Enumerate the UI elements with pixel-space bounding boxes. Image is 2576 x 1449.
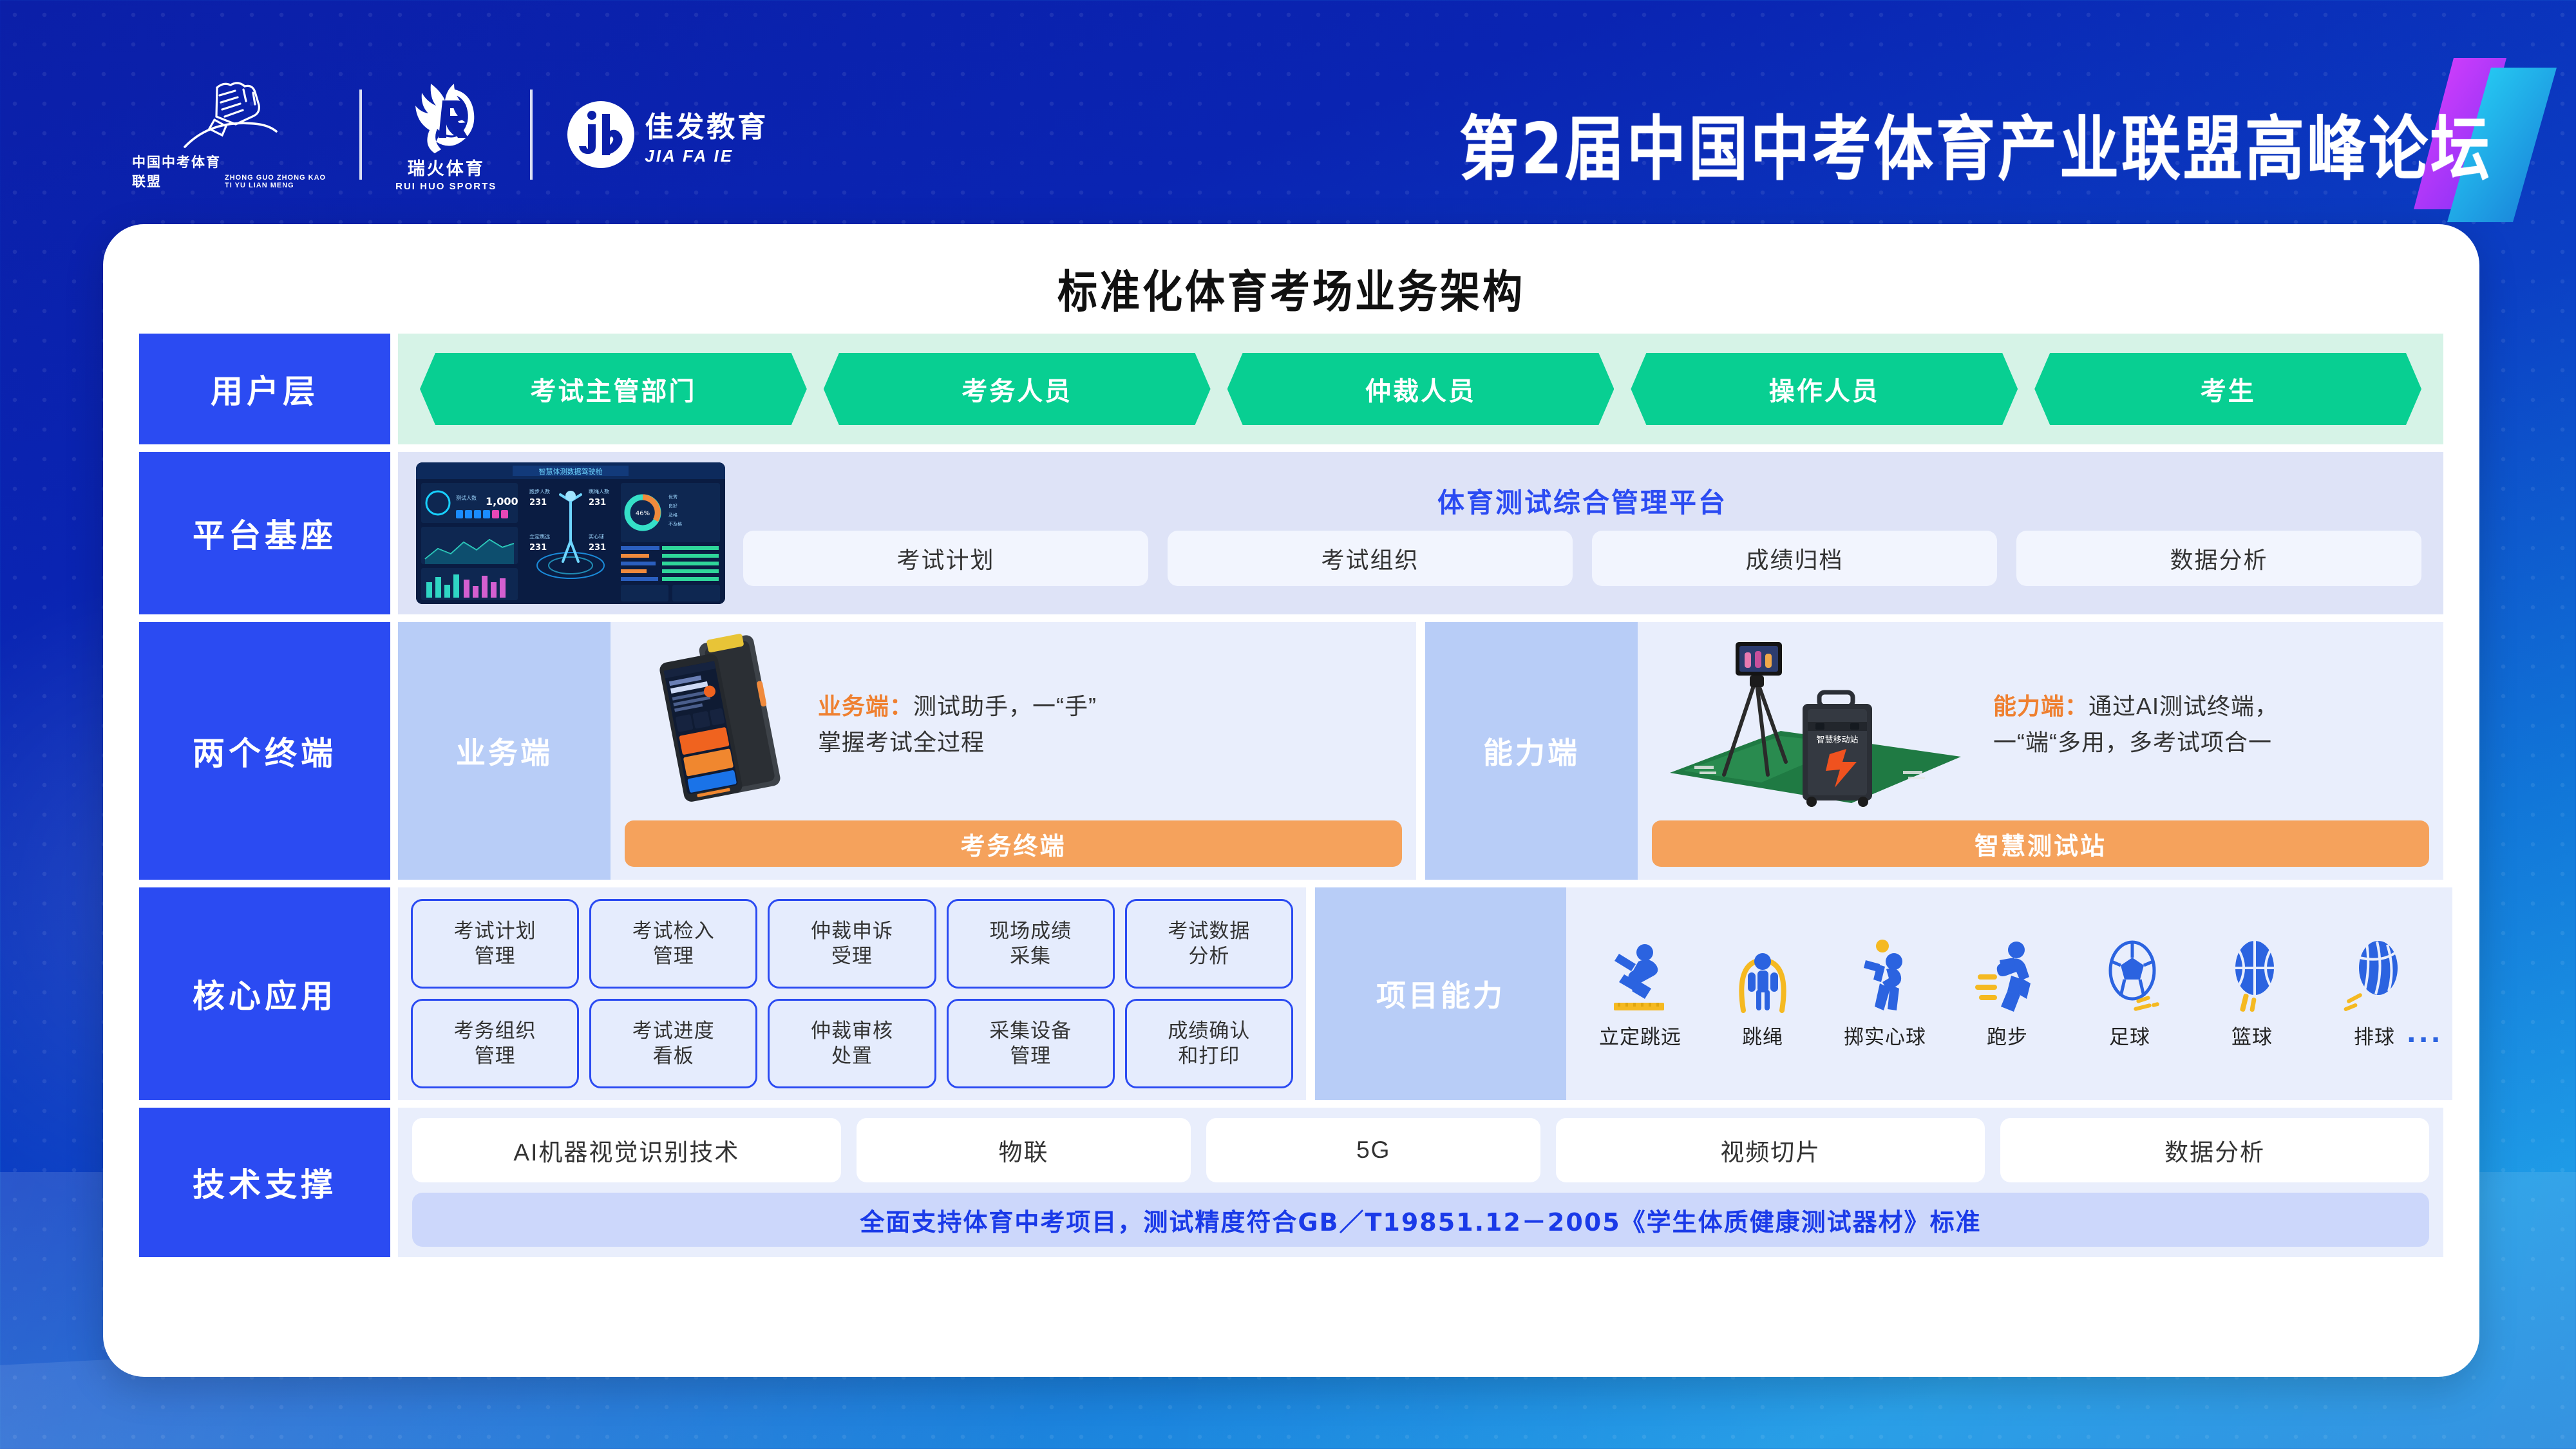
user-chip-list: 考试主管部门 考务人员 仲裁人员 操作人员 考生 xyxy=(398,334,2443,444)
core-app-item[interactable]: 成绩确认和打印 xyxy=(1125,999,1293,1088)
platform-tile-list: 考试计划 考试组织 成绩归档 数据分析 xyxy=(743,531,2421,586)
row-label-user-layer: 用户层 xyxy=(139,334,390,444)
solid-ball-throw-icon xyxy=(1854,938,1916,1014)
svg-text:智慧移动站: 智慧移动站 xyxy=(1816,735,1858,745)
core-app-line1: 考试检入 xyxy=(632,919,715,944)
platform-tile[interactable]: 数据分析 xyxy=(2016,531,2421,586)
core-app-line1: 仲裁申诉 xyxy=(811,919,893,944)
event-title: 第2届中国中考体育产业联盟高峰论坛 xyxy=(1459,93,2492,194)
user-chip[interactable]: 考试主管部门 xyxy=(420,353,807,425)
standing-long-jump-icon xyxy=(1605,938,1676,1014)
sport-label: 排球 xyxy=(2354,1021,2395,1050)
rope-skipping-icon xyxy=(1732,938,1794,1014)
running-icon xyxy=(1974,938,2041,1014)
svg-text:跳绳人数: 跳绳人数 xyxy=(589,488,609,495)
platform-tile[interactable]: 考试组织 xyxy=(1168,531,1573,586)
sport-item[interactable]: 篮球 xyxy=(2191,938,2313,1050)
platform-right: 体育测试综合管理平台 考试计划 考试组织 成绩归档 数据分析 xyxy=(743,481,2421,586)
row-label-tech-support: 技术支撑 xyxy=(139,1108,390,1257)
core-app-line1: 考试计划 xyxy=(454,919,536,944)
row-user-layer: 用户层 考试主管部门 考务人员 仲裁人员 操作人员 考生 xyxy=(139,334,2443,444)
core-app-line2: 分析 xyxy=(1188,944,1229,969)
row-label-platform: 平台基座 xyxy=(139,452,390,614)
svg-text:231: 231 xyxy=(589,543,606,553)
basketball-icon xyxy=(2219,938,2286,1014)
svg-text:立定跳远: 立定跳远 xyxy=(529,533,550,540)
volleyball-icon xyxy=(2341,938,2408,1014)
terminal-description: 能力端：通过AI测试终端， 一“端“多用，多考试项合一 xyxy=(1993,688,2429,761)
core-app-line2: 管理 xyxy=(1010,1044,1051,1069)
sport-label: 足球 xyxy=(2109,1021,2150,1050)
logo2-cn-line1: 瑞火体育 xyxy=(395,155,497,180)
project-abilities: 项目能力 xyxy=(1315,887,2452,1100)
logo3-cn-line1: 佳发教育 xyxy=(645,104,768,145)
logo1-py-line1: ZHONG GUO ZHONG KAO xyxy=(225,174,326,182)
core-section: 考试计划管理 考试检入管理 仲裁申诉受理 现场成绩采集 考试数据分析 考务组织管… xyxy=(398,887,2452,1100)
logo-ruihuo-sports: 瑞火体育 RUI HUO SPORTS xyxy=(395,77,497,192)
row-body-platform: 智慧体测数据驾驶舱 测试人数 1,000 xyxy=(398,452,2443,614)
platform-panel: 智慧体测数据驾驶舱 测试人数 1,000 xyxy=(398,452,2443,614)
user-chip[interactable]: 仲裁人员 xyxy=(1227,353,1615,425)
sport-label: 掷实心球 xyxy=(1844,1021,1926,1050)
tech-tile[interactable]: 5G xyxy=(1206,1118,1540,1182)
terminal-main: 业务端：测试助手，一“手” 掌握考试全过程 xyxy=(625,629,1402,820)
svg-text:实心球: 实心球 xyxy=(589,533,604,540)
logo-divider-1 xyxy=(359,90,362,180)
terminal-label: 业务端 xyxy=(398,622,611,880)
logo-group: 中国中考体育 联盟 ZHONG GUO ZHONG KAO TI YU LIAN… xyxy=(132,77,768,192)
core-app-item[interactable]: 考试数据分析 xyxy=(1125,899,1293,989)
core-app-item[interactable]: 仲裁审核处置 xyxy=(768,999,936,1088)
core-app-line1: 成绩确认 xyxy=(1168,1019,1250,1044)
sport-label: 立定跳远 xyxy=(1599,1021,1681,1050)
platform-heading: 体育测试综合管理平台 xyxy=(743,481,2421,520)
handheld-device-image xyxy=(625,631,811,818)
tech-tile[interactable]: 物联 xyxy=(857,1118,1191,1182)
svg-text:测试人数: 测试人数 xyxy=(456,495,477,501)
core-app-line1: 考务组织 xyxy=(454,1019,536,1044)
sport-item[interactable]: 跳绳 xyxy=(1701,938,1824,1050)
terminal-button[interactable]: 智慧测试站 xyxy=(1652,820,2429,867)
svg-text:优秀: 优秀 xyxy=(668,494,677,500)
svg-text:智慧体测数据驾驶舱: 智慧体测数据驾驶舱 xyxy=(539,467,603,476)
core-app-line2: 和打印 xyxy=(1178,1044,1240,1069)
logo-divider-2 xyxy=(530,90,533,180)
core-app-box: 考试计划管理 考试检入管理 仲裁申诉受理 现场成绩采集 考试数据分析 考务组织管… xyxy=(398,887,1306,1100)
football-icon xyxy=(2096,938,2163,1014)
row-body-tech-support: AI机器视觉识别技术 物联 5G 视频切片 数据分析 全面支持体育中考项目，测试… xyxy=(398,1108,2443,1257)
terminal-description: 业务端：测试助手，一“手” 掌握考试全过程 xyxy=(818,688,1402,761)
more-sports-ellipsis: ... xyxy=(2407,1012,2443,1050)
row-label-core-apps: 核心应用 xyxy=(139,887,390,1100)
jiafa-mark-icon xyxy=(566,100,636,169)
sport-label: 跳绳 xyxy=(1742,1021,1783,1050)
architecture-grid: 用户层 考试主管部门 考务人员 仲裁人员 操作人员 考生 平台基座 xyxy=(139,334,2443,1257)
core-app-item[interactable]: 考试计划管理 xyxy=(411,899,579,989)
tech-tile[interactable]: 视频切片 xyxy=(1556,1118,1985,1182)
row-label-terminals: 两个终端 xyxy=(139,622,390,880)
terminal-list: 业务端 xyxy=(398,622,2443,880)
row-platform: 平台基座 智慧体测数据驾驶舱 测试人数 1,000 xyxy=(139,452,2443,614)
sport-item[interactable]: 掷实心球 xyxy=(1824,938,1946,1050)
terminal-content: 业务端：测试助手，一“手” 掌握考试全过程 考务终端 xyxy=(611,622,1416,880)
terminal-desc-line1: 测试助手，一“手” xyxy=(913,693,1097,719)
terminal-main: 智慧移动站 能力端：通过AI测试终端， 一“端“多用，多考试项合一 xyxy=(1652,629,2429,820)
tech-panel: AI机器视觉识别技术 物联 5G 视频切片 数据分析 全面支持体育中考项目，测试… xyxy=(398,1108,2443,1257)
logo1-cn-line1: 中国中考体育 xyxy=(132,152,221,171)
standard-banner: 全面支持体育中考项目，测试精度符合GB／T19851.12－2005《学生体质健… xyxy=(412,1193,2429,1247)
user-chip[interactable]: 考生 xyxy=(2034,353,2421,425)
logo-zhongguo-zhongkao-tiyu-lianmeng: 中国中考体育 联盟 ZHONG GUO ZHONG KAO TI YU LIAN… xyxy=(132,79,326,191)
terminal-ability: 能力端 xyxy=(1425,622,2443,880)
svg-text:跑步人数: 跑步人数 xyxy=(529,488,550,495)
logo-caption: 瑞火体育 RUI HUO SPORTS xyxy=(395,155,497,192)
flame-r-icon xyxy=(405,77,488,153)
terminal-label: 能力端 xyxy=(1425,622,1638,880)
user-chip[interactable]: 考务人员 xyxy=(824,353,1211,425)
page-header: 中国中考体育 联盟 ZHONG GUO ZHONG KAO TI YU LIAN… xyxy=(0,0,2576,229)
svg-text:1,000: 1,000 xyxy=(486,495,518,507)
platform-tile[interactable]: 成绩归档 xyxy=(1592,531,1997,586)
terminal-accent: 能力端： xyxy=(1993,693,2088,719)
core-app-line2: 处置 xyxy=(831,1044,873,1069)
svg-text:231: 231 xyxy=(529,498,547,507)
core-app-line1: 采集设备 xyxy=(989,1019,1072,1044)
svg-text:及格: 及格 xyxy=(668,512,677,518)
logo-caption: 佳发教育 JIA FA IE xyxy=(645,104,768,166)
row-body-user-layer: 考试主管部门 考务人员 仲裁人员 操作人员 考生 xyxy=(398,334,2443,444)
core-app-line2: 看板 xyxy=(653,1044,694,1069)
svg-text:不及格: 不及格 xyxy=(668,521,682,527)
tech-tile[interactable]: 数据分析 xyxy=(2000,1118,2429,1182)
svg-text:46%: 46% xyxy=(636,510,650,517)
sport-label: 篮球 xyxy=(2231,1021,2273,1050)
sport-icon-list: 立定跳远 xyxy=(1566,887,2452,1100)
terminal-content: 智慧移动站 能力端：通过AI测试终端， 一“端“多用，多考试项合一 xyxy=(1638,622,2443,880)
core-app-item[interactable]: 仲裁申诉受理 xyxy=(768,899,936,989)
terminal-button[interactable]: 考务终端 xyxy=(625,820,1402,867)
core-app-line1: 现场成绩 xyxy=(989,919,1072,944)
core-app-line1: 考试数据 xyxy=(1168,919,1250,944)
core-app-line2: 受理 xyxy=(831,944,873,969)
logo-caption: 中国中考体育 联盟 ZHONG GUO ZHONG KAO TI YU LIAN… xyxy=(132,152,326,191)
terminal-business: 业务端 xyxy=(398,622,1416,880)
core-app-line2: 管理 xyxy=(475,944,516,969)
core-app-item[interactable]: 考务组织管理 xyxy=(411,999,579,1088)
row-core-apps: 核心应用 考试计划管理 考试检入管理 仲裁申诉受理 现场成绩采集 考试数据分析 … xyxy=(139,887,2443,1100)
logo2-py-line1: RUI HUO SPORTS xyxy=(395,181,497,192)
row-body-terminals: 业务端 xyxy=(398,622,2443,880)
abilities-label: 项目能力 xyxy=(1315,887,1566,1100)
user-chip[interactable]: 操作人员 xyxy=(1631,353,2018,425)
architecture-card: 标准化体育考场业务架构 用户层 考试主管部门 考务人员 仲裁人员 操作人员 考生… xyxy=(103,224,2479,1377)
core-app-line2: 管理 xyxy=(475,1044,516,1069)
platform-tile[interactable]: 考试计划 xyxy=(743,531,1148,586)
row-body-core-apps: 考试计划管理 考试检入管理 仲裁申诉受理 现场成绩采集 考试数据分析 考务组织管… xyxy=(398,887,2452,1100)
logo1-py-line2: TI YU LIAN MENG xyxy=(225,182,294,189)
core-app-item[interactable]: 采集设备管理 xyxy=(947,999,1115,1088)
tech-tile-list: AI机器视觉识别技术 物联 5G 视频切片 数据分析 xyxy=(412,1118,2429,1182)
svg-text:良好: 良好 xyxy=(668,503,677,509)
svg-text:231: 231 xyxy=(529,543,547,553)
sport-label: 跑步 xyxy=(1987,1021,2028,1050)
logo3-py-line1: JIA FA IE xyxy=(645,146,768,166)
core-app-line2: 管理 xyxy=(653,944,694,969)
core-app-item[interactable]: 考试进度看板 xyxy=(589,999,757,1088)
core-app-line2: 采集 xyxy=(1010,944,1051,969)
fist-icon xyxy=(181,79,278,149)
terminal-desc-line2: 掌握考试全过程 xyxy=(818,724,1402,761)
dashboard-screenshot: 智慧体测数据驾驶舱 测试人数 1,000 xyxy=(416,462,725,604)
logo-jiafa-education: 佳发教育 JIA FA IE xyxy=(566,100,768,169)
terminal-accent: 业务端： xyxy=(818,693,913,719)
sport-item[interactable]: 足球 xyxy=(2069,938,2191,1050)
sport-item[interactable]: 跑步 xyxy=(1946,938,2069,1050)
terminal-desc-line2: 一“端“多用，多考试项合一 xyxy=(1993,724,2429,761)
core-app-grid: 考试计划管理 考试检入管理 仲裁申诉受理 现场成绩采集 考试数据分析 考务组织管… xyxy=(411,899,1293,1088)
core-app-item[interactable]: 现场成绩采集 xyxy=(947,899,1115,989)
core-app-line1: 考试进度 xyxy=(632,1019,715,1044)
sport-item[interactable]: 立定跳远 xyxy=(1579,938,1701,1050)
logo1-cn-line2: 联盟 xyxy=(132,171,162,191)
svg-text:231: 231 xyxy=(589,498,606,507)
core-app-item[interactable]: 考试检入管理 xyxy=(589,899,757,989)
row-tech-support: 技术支撑 AI机器视觉识别技术 物联 5G 视频切片 数据分析 全面支持体育中考… xyxy=(139,1108,2443,1257)
tech-tile[interactable]: AI机器视觉识别技术 xyxy=(412,1118,841,1182)
row-terminals: 两个终端 业务端 xyxy=(139,622,2443,880)
core-app-line1: 仲裁审核 xyxy=(811,1019,893,1044)
page-title: 标准化体育考场业务架构 xyxy=(139,256,2443,321)
smart-test-station-image: 智慧移动站 xyxy=(1652,631,1987,818)
terminal-desc-line1: 通过AI测试终端， xyxy=(2088,693,2278,719)
